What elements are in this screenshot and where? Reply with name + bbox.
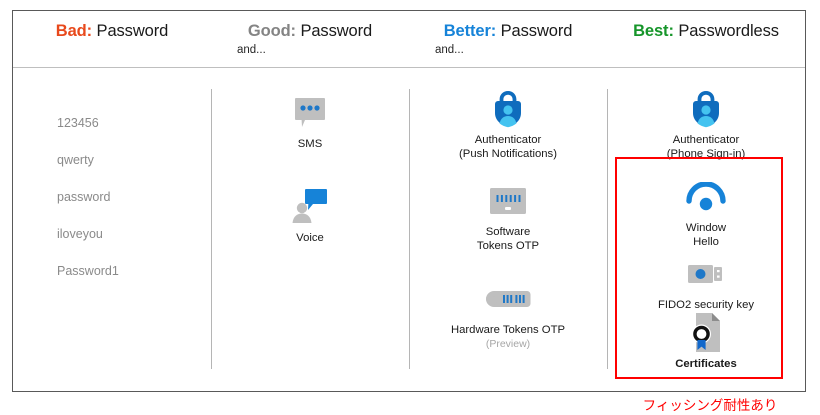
authenticator-shield-person-icon: [409, 88, 607, 130]
method-voice: Voice: [211, 186, 409, 246]
header-value-good: Password: [300, 22, 372, 40]
weak-password-list: 123456 qwerty password iloveyou Password…: [57, 116, 119, 301]
header-cell-best: Best: Passwordless: [607, 11, 805, 67]
header-key-good: Good:: [248, 22, 296, 40]
header-value-best: Passwordless: [678, 22, 779, 40]
method-label: Hardware Tokens OTP: [409, 324, 607, 338]
header-title-best: Best: Passwordless: [607, 22, 805, 41]
method-label: Authenticator (Phone Sign-in): [607, 134, 805, 161]
header-title-bad: Bad: Password: [13, 22, 211, 41]
list-item: iloveyou: [57, 227, 119, 241]
chart-header-row: Bad: Password Good: Password and... Bett…: [13, 11, 805, 68]
hardware-token-key-icon: [409, 278, 607, 320]
header-title-good: Good: Password: [211, 22, 409, 41]
sms-chat-bubble-icon: [211, 92, 409, 134]
method-authenticator-push: Authenticator (Push Notifications): [409, 88, 607, 161]
phishing-resistant-caption: フィッシング耐性あり: [620, 394, 800, 414]
header-title-better: Better: Password: [409, 22, 607, 41]
header-cell-good: Good: Password and...: [211, 11, 409, 67]
method-label: Certificates: [607, 358, 805, 372]
header-cell-better: Better: Password and...: [409, 11, 607, 67]
method-certificates: Certificates: [607, 312, 805, 372]
header-sub-good: and...: [211, 44, 409, 56]
method-label: Authenticator (Push Notifications): [409, 134, 607, 161]
chart-body-row: 123456 qwerty password iloveyou Password…: [13, 68, 805, 391]
header-cell-bad: Bad: Password: [13, 11, 211, 67]
method-label: Voice: [211, 232, 409, 246]
list-item: Password1: [57, 264, 119, 278]
method-hardware-tokens-otp: Hardware Tokens OTP (Preview): [409, 278, 607, 351]
comparison-chart-frame: Bad: Password Good: Password and... Bett…: [12, 10, 806, 392]
list-item: password: [57, 190, 119, 204]
method-note: (Preview): [409, 338, 607, 351]
header-key-bad: Bad:: [56, 22, 92, 40]
method-label: SMS: [211, 138, 409, 152]
authenticator-shield-person-icon: [607, 88, 805, 130]
column-better: Authenticator (Push Notifications): [409, 68, 607, 391]
voice-person-bubble-icon: [211, 186, 409, 228]
method-label: Software Tokens OTP: [409, 226, 607, 253]
windows-hello-arc-icon: [607, 176, 805, 218]
method-software-tokens-otp: Software Tokens OTP: [409, 180, 607, 253]
header-key-better: Better:: [444, 22, 496, 40]
list-item: qwerty: [57, 153, 119, 167]
column-best: Authenticator (Phone Sign-in) Window Hel…: [607, 68, 805, 391]
header-value-better: Password: [501, 22, 573, 40]
list-item: 123456: [57, 116, 119, 130]
header-key-best: Best:: [633, 22, 674, 40]
method-windows-hello: Window Hello: [607, 176, 805, 249]
certificate-document-seal-icon: [607, 312, 805, 354]
column-bad: 123456 qwerty password iloveyou Password…: [13, 68, 211, 391]
header-sub-better: and...: [409, 44, 607, 56]
software-token-device-icon: [409, 180, 607, 222]
method-sms: SMS: [211, 92, 409, 152]
header-value-bad: Password: [97, 22, 169, 40]
fido2-usb-key-icon: [607, 253, 805, 295]
method-authenticator-phone-signin: Authenticator (Phone Sign-in): [607, 88, 805, 161]
method-fido2-security-key: FIDO2 security key: [607, 253, 805, 313]
column-good: SMS Voice: [211, 68, 409, 391]
method-label: Window Hello: [607, 222, 805, 249]
